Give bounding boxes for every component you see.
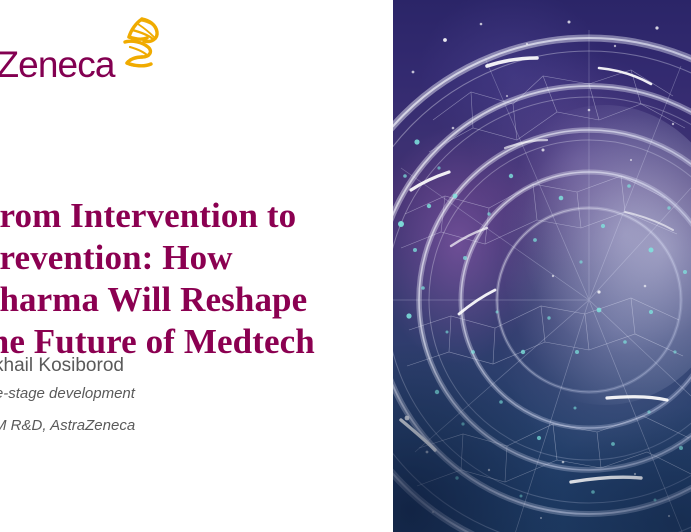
speaker-affiliation-line: BPM R&D, AstraZeneca xyxy=(0,410,393,442)
speaker-byline: Mikhail Kosiborod Late-stage development… xyxy=(0,354,393,442)
astrazeneca-wordmark: traZeneca xyxy=(0,46,115,83)
decorative-network-image xyxy=(393,0,691,532)
title-line: Prevention: How xyxy=(0,237,393,279)
image-vignette xyxy=(393,0,691,532)
speaker-name: Mikhail Kosiborod xyxy=(0,354,393,378)
title-line: From Intervention to xyxy=(0,195,393,237)
title-slide: traZeneca xyxy=(0,0,691,532)
astrazeneca-logo: traZeneca xyxy=(0,28,162,86)
slide-content-panel: traZeneca xyxy=(0,0,393,532)
slide-title: From Intervention to Prevention: How Pha… xyxy=(0,195,393,363)
title-line: Pharma Will Reshape xyxy=(0,279,393,321)
speaker-affiliation-line: Late-stage development xyxy=(0,378,393,410)
astrazeneca-helix-logo xyxy=(116,16,162,70)
